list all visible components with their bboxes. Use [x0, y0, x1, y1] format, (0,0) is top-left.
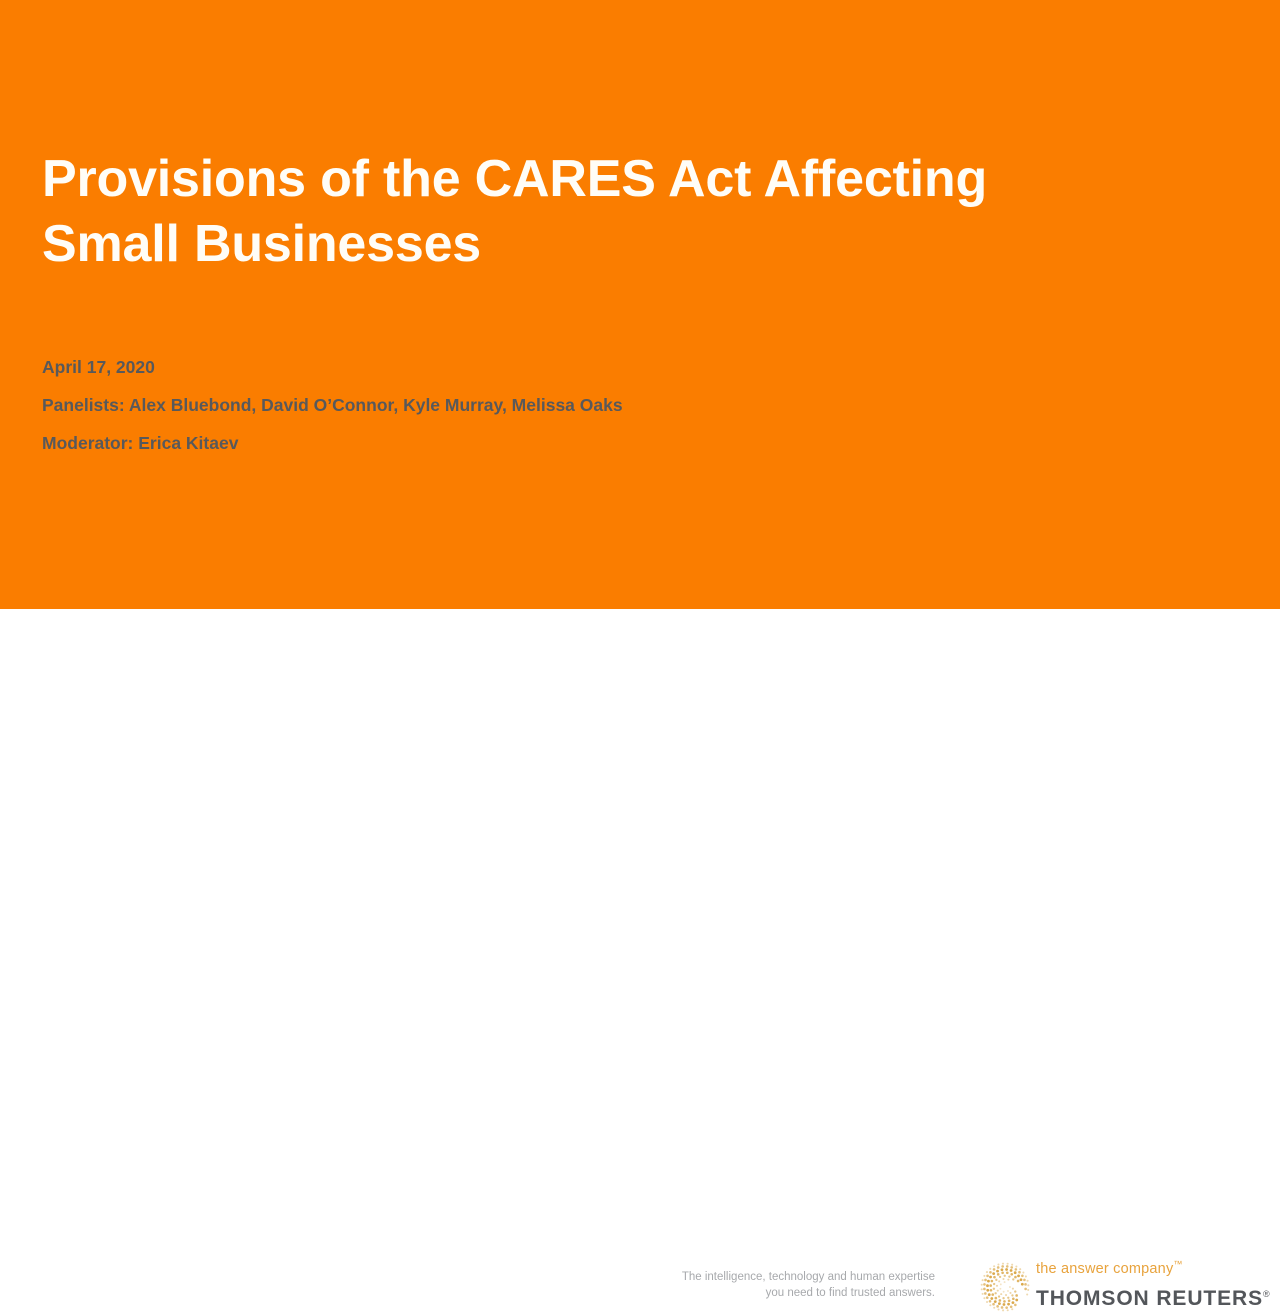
- presentation-slide: Provisions of the CARES Act Affecting Sm…: [0, 0, 1280, 720]
- trademark-icon: ™: [1173, 1259, 1182, 1269]
- logo-text-block: the answer company™ THOMSON REUTERS®: [1036, 1254, 1270, 1312]
- page-title: Provisions of the CARES Act Affecting Sm…: [42, 147, 1102, 277]
- logo-wordmark-text: THOMSON REUTERS: [1036, 1287, 1263, 1310]
- slide-moderator: Moderator: Erica Kitaev: [42, 424, 1142, 462]
- registered-trademark-icon: ®: [1263, 1289, 1270, 1299]
- logo-wordmark: THOMSON REUTERS®: [1036, 1281, 1270, 1312]
- footer-tagline-line-2: you need to find trusted answers.: [635, 1285, 935, 1301]
- footer-tagline-line-1: The intelligence, technology and human e…: [635, 1269, 935, 1285]
- hero-banner: Provisions of the CARES Act Affecting Sm…: [0, 0, 1280, 609]
- footer-tagline: The intelligence, technology and human e…: [635, 1269, 935, 1301]
- slide-footer: The intelligence, technology and human e…: [0, 609, 1280, 720]
- slide-date: April 17, 2020: [42, 348, 1142, 386]
- slide-metadata: April 17, 2020 Panelists: Alex Bluebond,…: [42, 348, 1142, 462]
- slide-panelists: Panelists: Alex Bluebond, David O’Connor…: [42, 386, 1142, 424]
- thomson-reuters-logo: the answer company™ THOMSON REUTERS®: [978, 1254, 1258, 1316]
- thomson-reuters-kinesis-icon: [978, 1260, 1032, 1314]
- logo-strapline: the answer company™: [1036, 1254, 1270, 1279]
- logo-strapline-text: the answer company: [1036, 1261, 1173, 1277]
